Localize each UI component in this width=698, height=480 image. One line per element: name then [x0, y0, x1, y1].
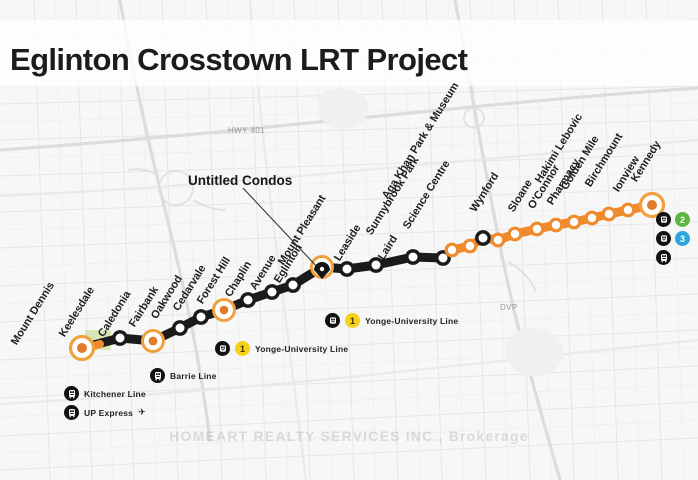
legend-line-3: 3	[656, 231, 690, 246]
road-label-dvp: DVP	[500, 303, 518, 312]
legend-barrie-line-label: Barrie Line	[170, 371, 217, 381]
subway-icon	[325, 313, 340, 328]
line-2-badge: 2	[675, 212, 690, 227]
legend-yonge-university-label: Yonge-University Line	[365, 316, 458, 326]
legend-line-2: 2	[656, 212, 690, 227]
subway-icon	[656, 212, 671, 227]
legend-kitchener-line: Kitchener Line	[64, 386, 146, 401]
legend-kennedy-connections: 2 3	[656, 212, 690, 265]
transit-map: Eglinton Crosstown LRT Project HWY 401 D…	[0, 0, 698, 480]
legend-kitchener-line-label: Kitchener Line	[84, 389, 146, 399]
go-train-icon	[150, 368, 165, 383]
brokerage-watermark: HOMEART REALTY SERVICES INC., Brokerage	[0, 428, 698, 444]
go-train-icon	[656, 250, 671, 265]
line-1-badge: 1	[345, 313, 360, 328]
legend-yonge-university-eglinton: 1 Yonge-University Line	[325, 313, 458, 328]
legend-barrie-line: Barrie Line	[150, 368, 217, 383]
road-label-hwy401: HWY 401	[228, 126, 265, 135]
callout-label: Untitled Condos	[188, 173, 292, 188]
line-3-badge: 3	[675, 231, 690, 246]
line-1-badge: 1	[235, 341, 250, 356]
subway-icon	[656, 231, 671, 246]
airplane-icon: ✈	[138, 407, 146, 418]
legend-yonge-university-label: Yonge-University Line	[255, 344, 348, 354]
legend-yonge-university-cedarvale: 1 Yonge-University Line	[215, 341, 348, 356]
page-title: Eglinton Crosstown LRT Project	[10, 42, 467, 78]
subway-icon	[215, 341, 230, 356]
go-train-icon	[64, 386, 79, 401]
legend-up-express: UP Express ✈	[64, 405, 146, 420]
up-train-icon	[64, 405, 79, 420]
legend-go-rail	[656, 250, 690, 265]
legend-up-express-label: UP Express	[84, 408, 133, 418]
